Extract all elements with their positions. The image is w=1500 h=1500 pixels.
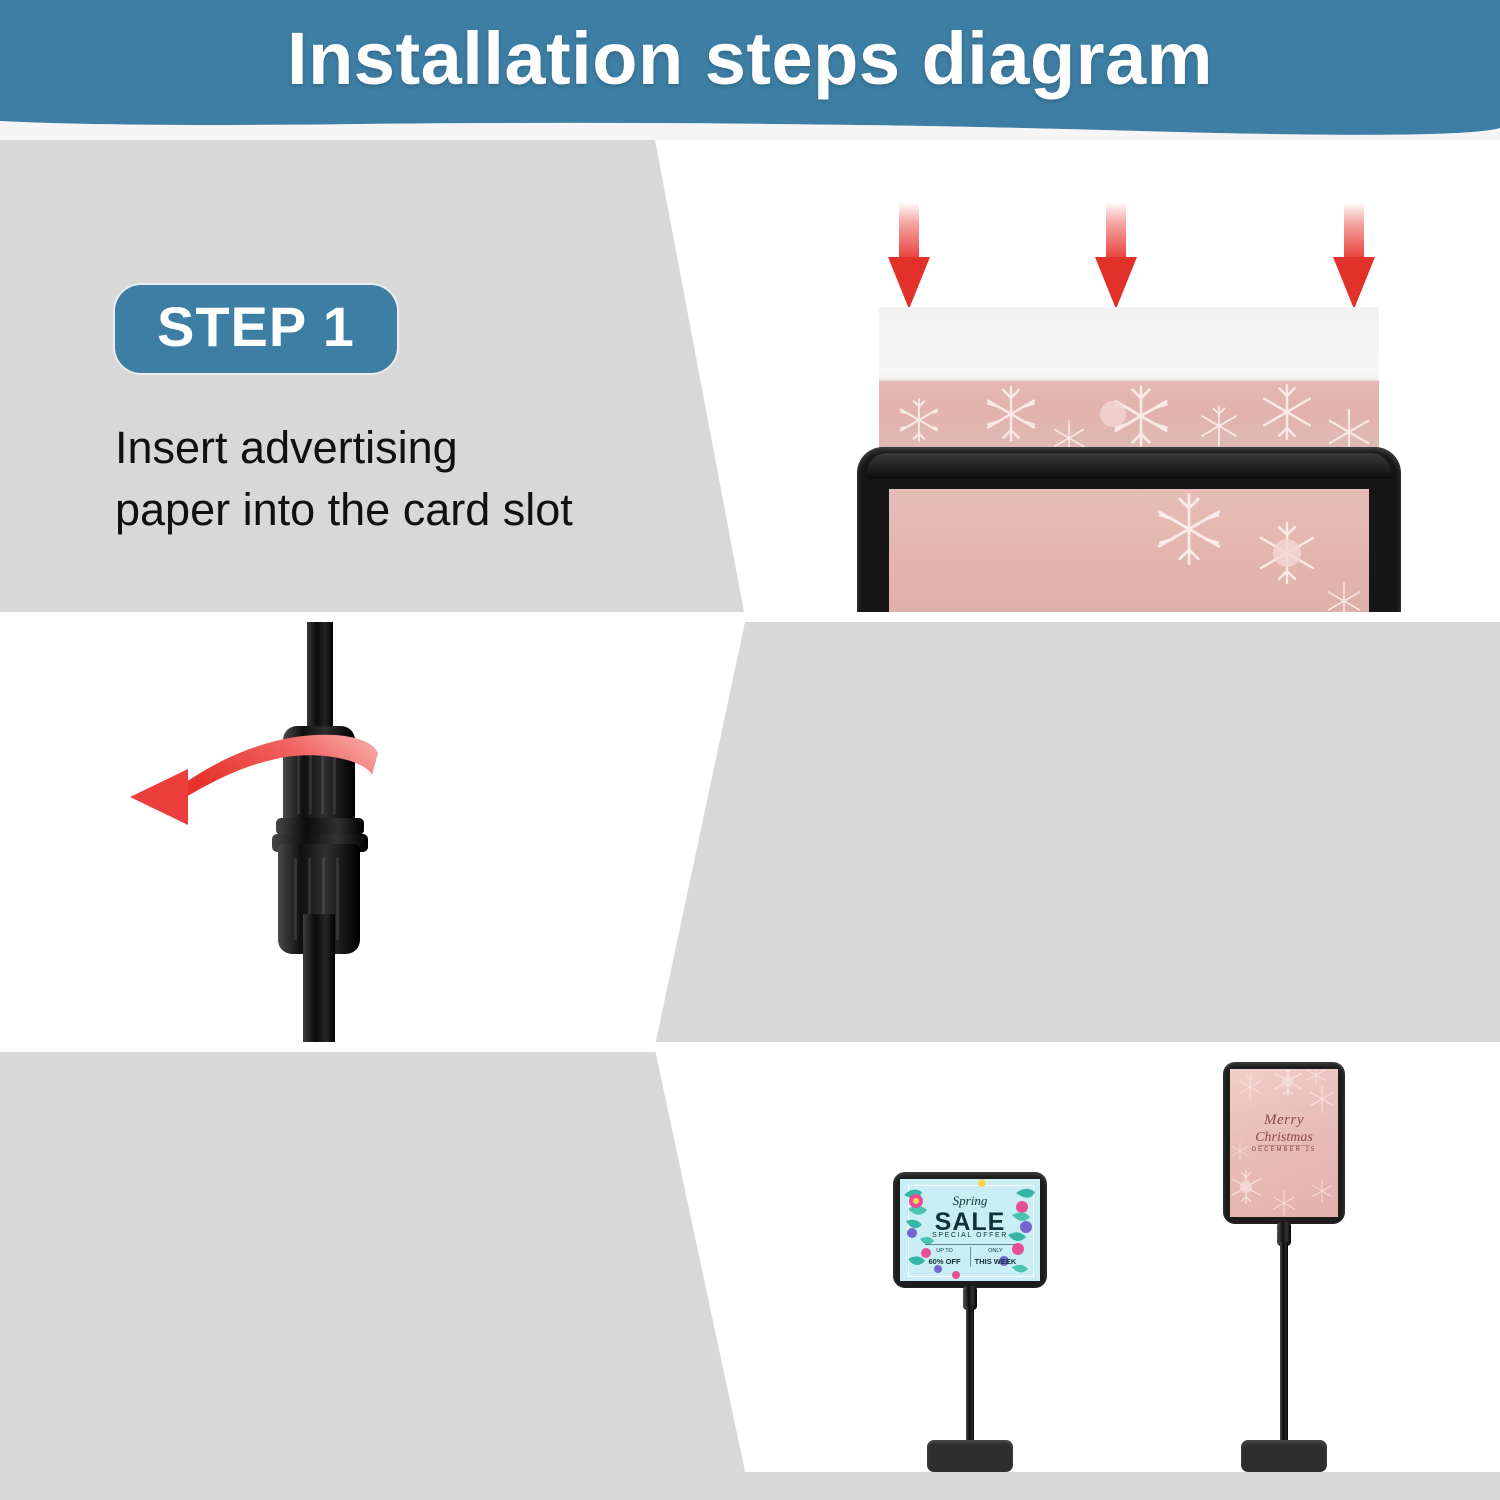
poster-detail-columns: UP TO 60% OFF ONLY THIS WEEK <box>920 1247 1021 1267</box>
row-separator <box>0 1042 1500 1052</box>
poster-date: DECEMBER 25 <box>1230 1147 1338 1153</box>
stand-base <box>1241 1440 1327 1472</box>
step-1-white-sheet <box>650 140 1500 618</box>
pole <box>1280 1242 1288 1456</box>
snap-frame-lip <box>867 453 1391 479</box>
poster-detail-left: UP TO 60% OFF <box>920 1247 970 1267</box>
merry-christmas-poster: Merry Christmas DECEMBER 25 <box>1230 1069 1338 1217</box>
step-1-illustration-panel <box>650 140 1500 618</box>
step-1-row: STEP 1 Insert advertising paper into the… <box>0 140 1500 618</box>
knob-rib <box>294 858 297 940</box>
arrow-head <box>1095 257 1137 309</box>
step-1-badge: STEP 1 <box>115 285 397 373</box>
advertising-paper <box>879 307 1379 459</box>
step-3-illustration-panel: Spring SALE SPECIAL OFFER UP TO 60% OFF <box>650 1050 1500 1472</box>
poster-right-small: ONLY <box>971 1247 1021 1255</box>
down-arrow-icon <box>888 202 930 312</box>
step-1-caption-line-1: Insert advertising <box>115 417 573 479</box>
step-2-row: STEP 2 Connect the knob to snap <box>0 622 1500 1042</box>
row-separator <box>0 612 1500 622</box>
portrait-merry-christmas-stand: Merry Christmas DECEMBER 25 <box>1080 1050 1500 1472</box>
snap-frame-window <box>889 489 1369 618</box>
spring-sale-poster: Spring SALE SPECIAL OFFER UP TO 60% OFF <box>900 1179 1040 1281</box>
lower-pole <box>303 914 335 1042</box>
step-1-text-block: STEP 1 Insert advertising paper into the… <box>115 285 573 541</box>
poster-detail-right: ONLY THIS WEEK <box>971 1247 1021 1267</box>
step-3-row: Spring SALE SPECIAL OFFER UP TO 60% OFF <box>0 1050 1500 1472</box>
stand-base <box>927 1440 1013 1472</box>
down-arrow-icon <box>1095 202 1137 312</box>
arrow-head <box>1333 257 1375 309</box>
rotation-arrow-icon <box>120 727 390 847</box>
step-1-caption-line-2: paper into the card slot <box>115 479 573 541</box>
arrow-head <box>888 257 930 309</box>
assembled-stands-illustration: Spring SALE SPECIAL OFFER UP TO 60% OFF <box>650 1050 1500 1472</box>
poster-column-divider <box>970 1247 971 1267</box>
arrow-stem <box>1344 202 1364 264</box>
header-banner: Installation steps diagram <box>0 0 1500 140</box>
poster-left-small: UP TO <box>920 1247 970 1255</box>
step-1-caption: Insert advertising paper into the card s… <box>115 417 573 541</box>
down-arrow-icon <box>1333 202 1375 312</box>
step-3-white-sheet: Spring SALE SPECIAL OFFER UP TO 60% OFF <box>650 1050 1500 1472</box>
poster-divider <box>925 1244 1015 1245</box>
poster-divider <box>1258 1145 1310 1146</box>
poster-subhead: SPECIAL OFFER <box>900 1232 1040 1239</box>
black-snap-frame <box>857 447 1401 618</box>
installation-steps-diagram: Installation steps diagram <box>0 0 1500 1500</box>
page-title: Installation steps diagram <box>0 16 1500 101</box>
pole <box>966 1306 974 1456</box>
poster-line-1: Merry <box>1230 1112 1338 1129</box>
landscape-spring-sale-stand: Spring SALE SPECIAL OFFER UP TO 60% OFF <box>650 1050 1070 1472</box>
poster-left-big: 60% OFF <box>929 1257 961 1266</box>
knob-rib <box>336 858 339 940</box>
insert-paper-illustration <box>650 140 1500 618</box>
step-2-illustration-panel <box>0 622 790 1042</box>
poster-right-big: THIS WEEK <box>975 1257 1017 1266</box>
arrow-stem <box>1106 202 1126 264</box>
arrow-stem <box>899 202 919 264</box>
knob-connector-illustration <box>0 622 790 1042</box>
step-2-white-sheet <box>0 622 790 1042</box>
poster-line-2: Christmas <box>1230 1130 1338 1146</box>
